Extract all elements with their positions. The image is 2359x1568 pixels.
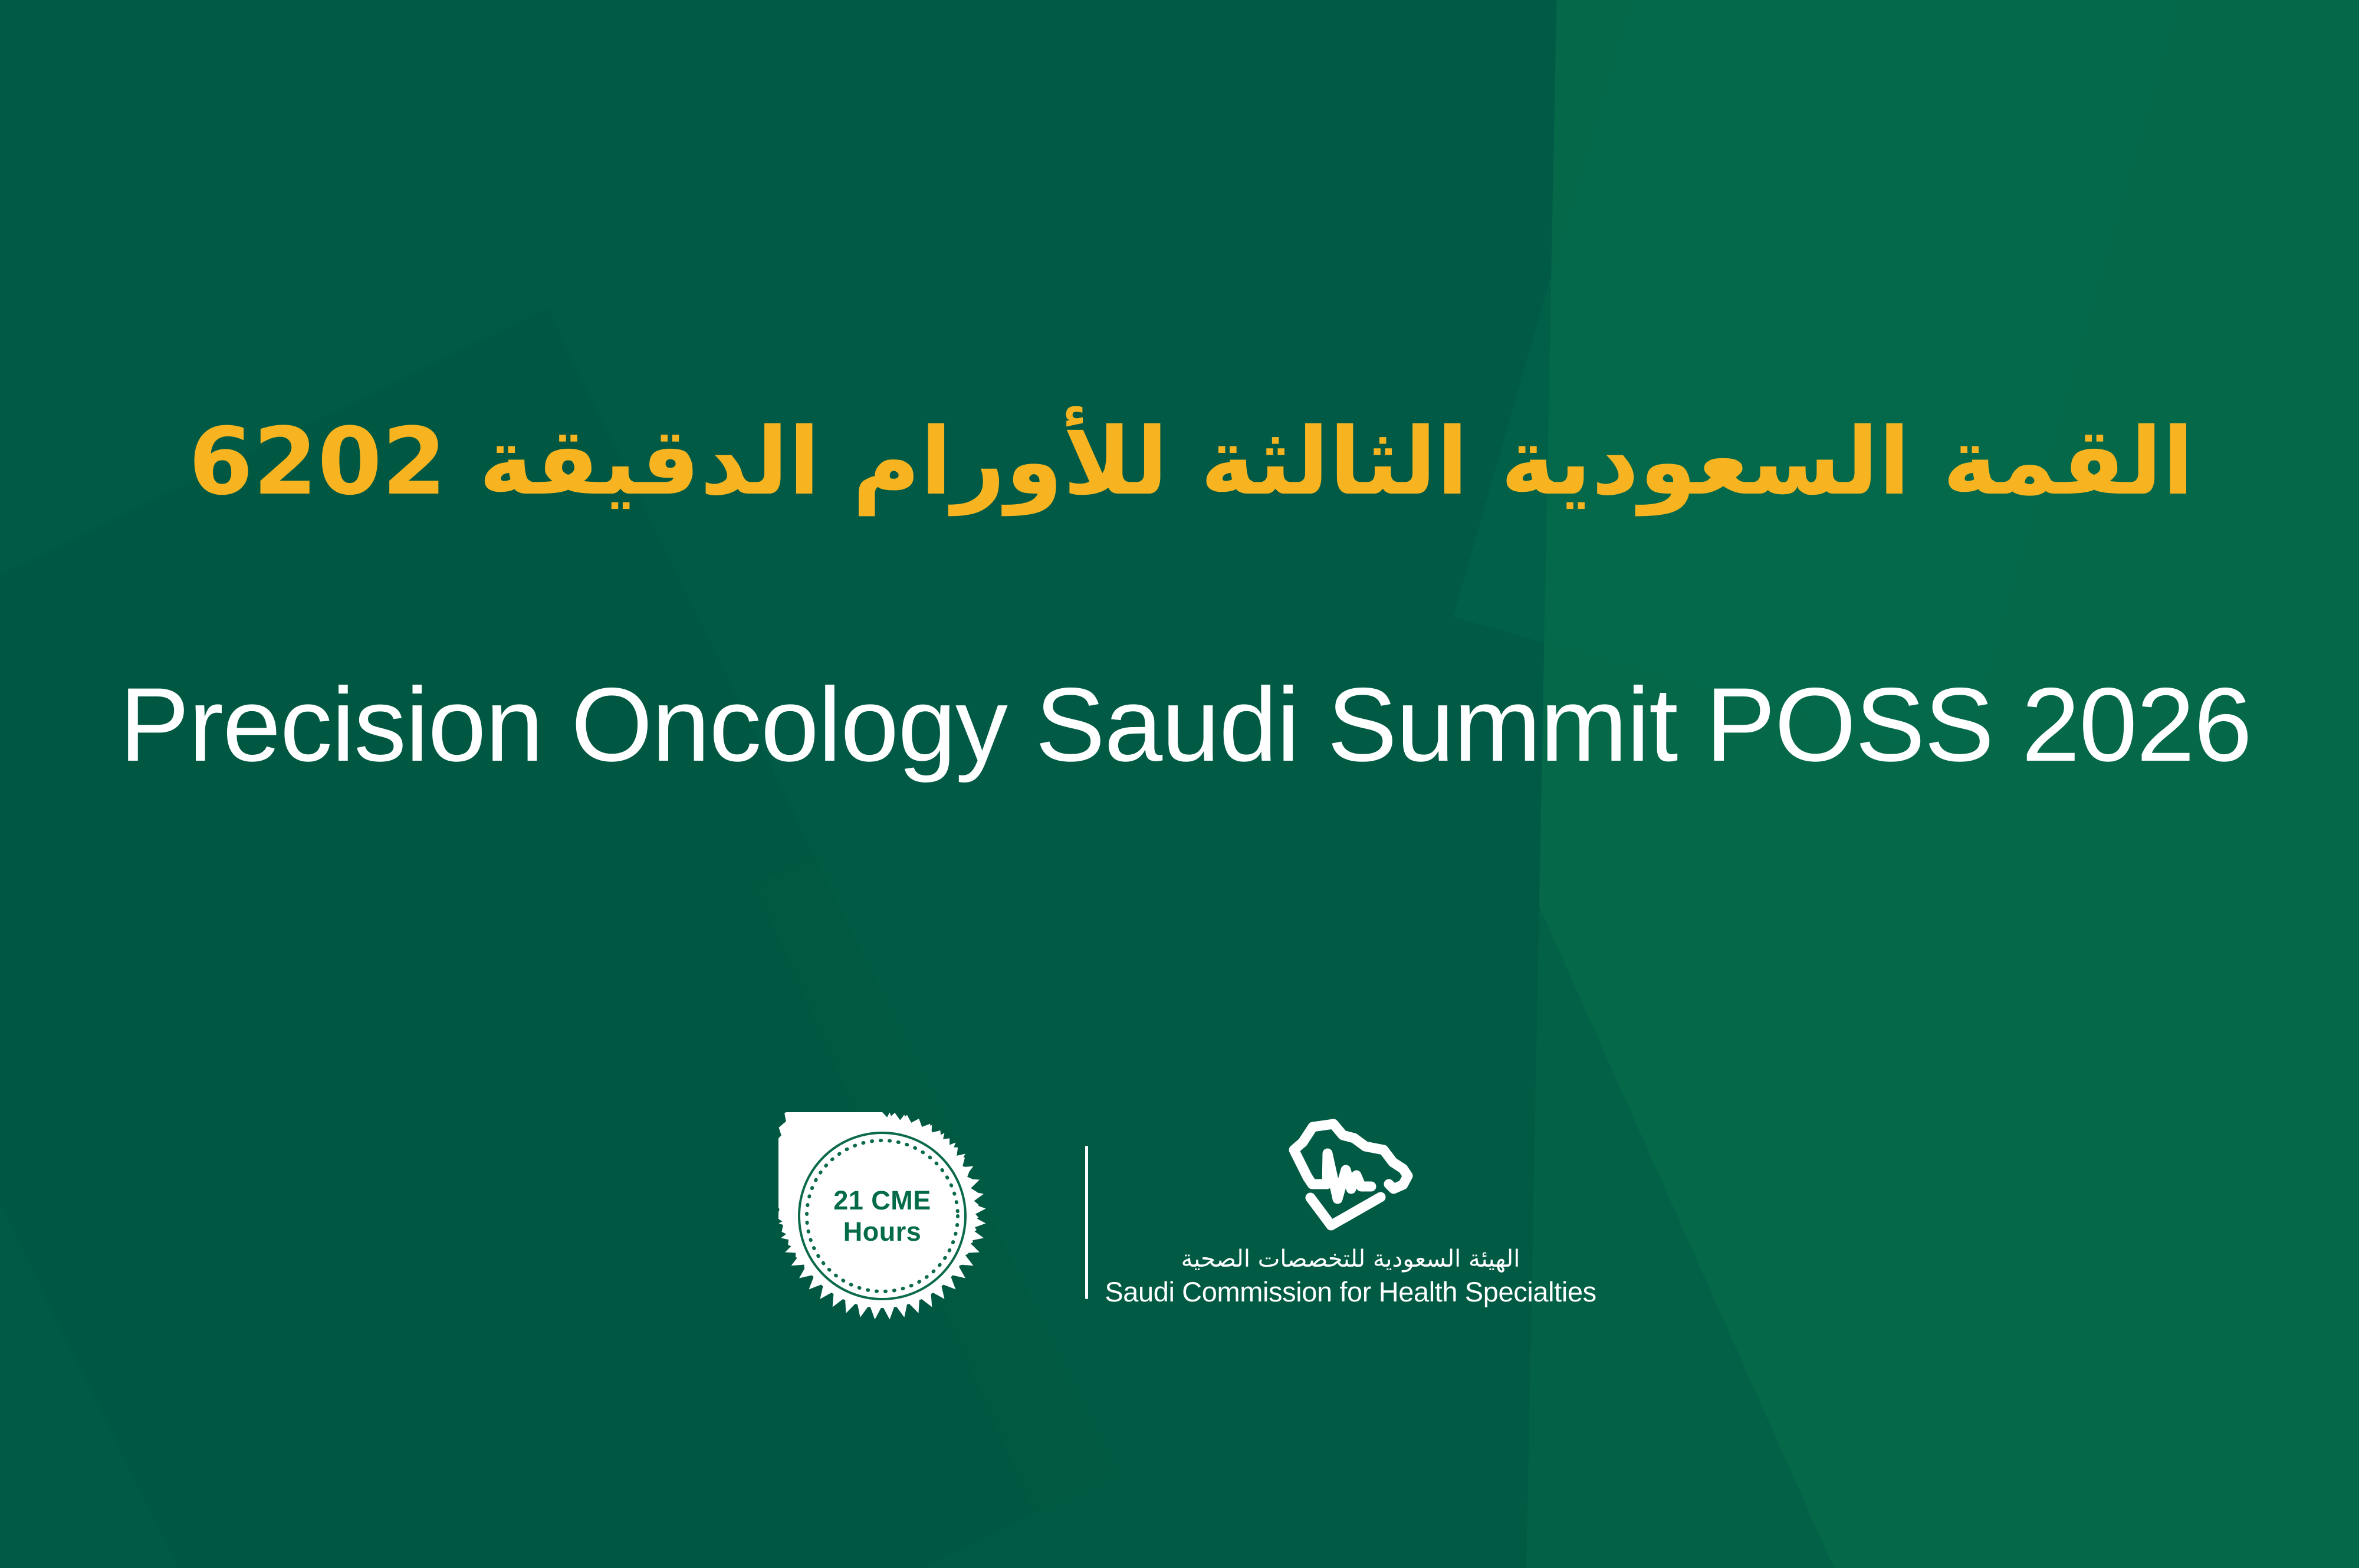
- event-title-english: Precision Oncology Saudi Summit POSS 202…: [106, 672, 2265, 777]
- map-outline-bottom: [1310, 1197, 1381, 1225]
- scfhs-name-english: Saudi Commission for Health Specialties: [1105, 1277, 1596, 1306]
- vertical-divider: [1085, 1146, 1088, 1299]
- event-title-arabic: القمة السعودية الثالثة للأورام الدقيقة 2…: [177, 416, 2206, 508]
- scfhs-accreditor-logo: الهيئة السعودية للتخصصات الصحية Saudi Co…: [1126, 1107, 1575, 1306]
- poster-canvas: القمة السعودية الثالثة للأورام الدقيقة 2…: [0, 0, 2359, 1568]
- map-outline-left: [1294, 1142, 1327, 1184]
- rosette-seal-icon: [778, 1112, 986, 1320]
- saudi-map-heartbeat-icon: [1277, 1107, 1424, 1232]
- credentials-row: 21 CME Hours: [737, 1097, 1740, 1350]
- heartbeat-line: [1327, 1153, 1371, 1199]
- cme-hours-badge: 21 CME Hours: [778, 1112, 986, 1320]
- scfhs-name-arabic: الهيئة السعودية للتخصصات الصحية: [1181, 1247, 1520, 1271]
